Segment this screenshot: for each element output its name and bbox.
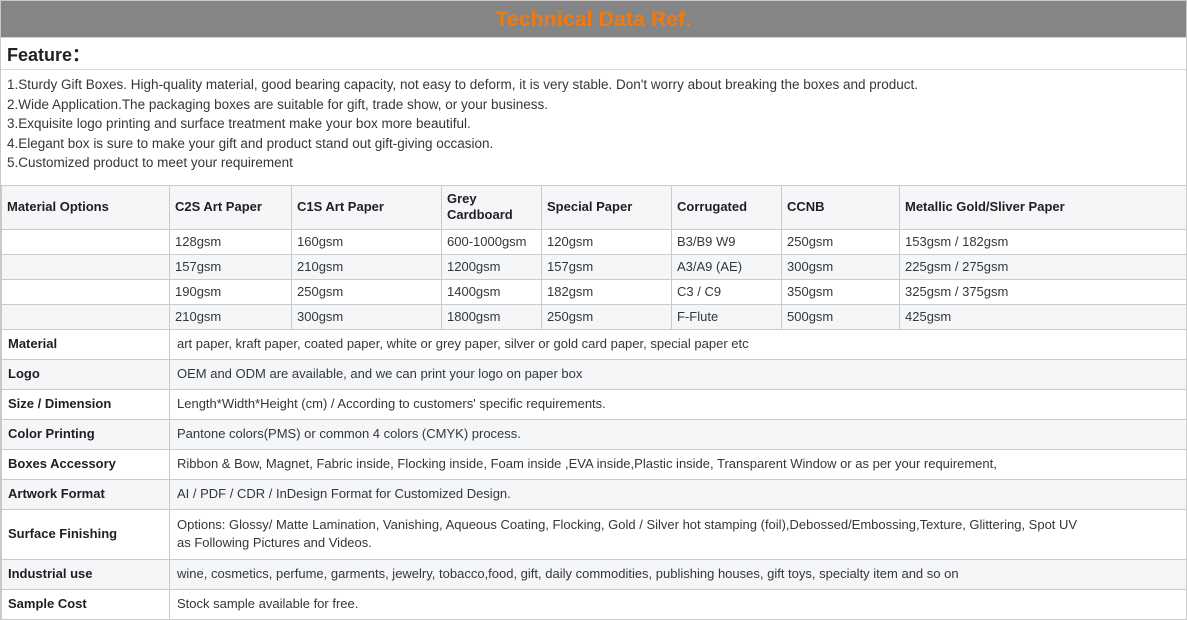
cell-special-paper: 182gsm <box>542 279 672 304</box>
spec-row-size-dimension: Size / Dimension Length*Width*Height (cm… <box>2 389 1187 419</box>
cell-grey-cardboard: 1400gsm <box>442 279 542 304</box>
feature-line: 3.Exquisite logo printing and surface tr… <box>7 114 1186 134</box>
spec-value-logo: OEM and ODM are available, and we can pr… <box>170 359 1187 389</box>
cell-special-paper: 250gsm <box>542 304 672 329</box>
spec-row-color-printing: Color Printing Pantone colors(PMS) or co… <box>2 419 1187 449</box>
cell-special-paper: 157gsm <box>542 254 672 279</box>
table-row: 128gsm 160gsm 600-1000gsm 120gsm B3/B9 W… <box>2 229 1187 254</box>
technical-data-sheet: Technical Data Ref. Feature： 1.Sturdy Gi… <box>0 0 1187 620</box>
spec-row-sample-cost: Sample Cost Stock sample available for f… <box>2 589 1187 619</box>
feature-list: 1.Sturdy Gift Boxes. High-quality materi… <box>1 70 1186 179</box>
table-row: 210gsm 300gsm 1800gsm 250gsm F-Flute 500… <box>2 304 1187 329</box>
cell-grey-cardboard: 1200gsm <box>442 254 542 279</box>
cell-metallic: 425gsm <box>900 304 1187 329</box>
feature-heading: Feature： <box>1 38 1186 70</box>
spec-label-industrial-use: Industrial use <box>2 559 170 589</box>
cell-grey-cardboard: 600-1000gsm <box>442 229 542 254</box>
cell-material-options <box>2 229 170 254</box>
cell-ccnb: 500gsm <box>782 304 900 329</box>
column-header-grey-cardboard: Grey Cardboard <box>442 185 542 229</box>
cell-corrugated: A3/A9 (AE) <box>672 254 782 279</box>
cell-metallic: 325gsm / 375gsm <box>900 279 1187 304</box>
cell-c2s: 210gsm <box>170 304 292 329</box>
page-title: Technical Data Ref. <box>496 9 692 30</box>
feature-heading-label: Feature： <box>7 41 90 67</box>
cell-material-options <box>2 304 170 329</box>
cell-corrugated: B3/B9 W9 <box>672 229 782 254</box>
spec-value-sample-cost: Stock sample available for free. <box>170 589 1187 619</box>
spec-label-sample-cost: Sample Cost <box>2 589 170 619</box>
spec-row-industrial-use: Industrial use wine, cosmetics, perfume,… <box>2 559 1187 589</box>
cell-metallic: 225gsm / 275gsm <box>900 254 1187 279</box>
column-header-ccnb: CCNB <box>782 185 900 229</box>
cell-c1s: 210gsm <box>292 254 442 279</box>
cell-material-options <box>2 254 170 279</box>
spec-row-boxes-accessory: Boxes Accessory Ribbon & Bow, Magnet, Fa… <box>2 449 1187 479</box>
spec-label-boxes-accessory: Boxes Accessory <box>2 449 170 479</box>
cell-corrugated: F-Flute <box>672 304 782 329</box>
title-bar: Technical Data Ref. <box>1 1 1186 38</box>
spec-label-material: Material <box>2 329 170 359</box>
spec-label-artwork-format: Artwork Format <box>2 479 170 509</box>
column-header-corrugated: Corrugated <box>672 185 782 229</box>
cell-c2s: 190gsm <box>170 279 292 304</box>
cell-corrugated: C3 / C9 <box>672 279 782 304</box>
cell-special-paper: 120gsm <box>542 229 672 254</box>
technical-data-table: Material Options C2S Art Paper C1S Art P… <box>1 185 1187 620</box>
cell-grey-cardboard: 1800gsm <box>442 304 542 329</box>
cell-c1s: 300gsm <box>292 304 442 329</box>
surface-finishing-line-1: Options: Glossy/ Matte Lamination, Vanis… <box>177 516 1181 534</box>
column-header-special-paper: Special Paper <box>542 185 672 229</box>
spec-value-surface-finishing: Options: Glossy/ Matte Lamination, Vanis… <box>170 509 1187 559</box>
column-header-c1s-art-paper: C1S Art Paper <box>292 185 442 229</box>
spec-value-artwork-format: AI / PDF / CDR / InDesign Format for Cus… <box>170 479 1187 509</box>
spec-label-size-dimension: Size / Dimension <box>2 389 170 419</box>
cell-c2s: 128gsm <box>170 229 292 254</box>
spec-label-surface-finishing: Surface Finishing <box>2 509 170 559</box>
surface-finishing-line-2: as Following Pictures and Videos. <box>177 534 1181 552</box>
column-header-c2s-art-paper: C2S Art Paper <box>170 185 292 229</box>
cell-c1s: 160gsm <box>292 229 442 254</box>
spec-row-artwork-format: Artwork Format AI / PDF / CDR / InDesign… <box>2 479 1187 509</box>
cell-material-options <box>2 279 170 304</box>
spec-value-industrial-use: wine, cosmetics, perfume, garments, jewe… <box>170 559 1187 589</box>
cell-c2s: 157gsm <box>170 254 292 279</box>
cell-ccnb: 350gsm <box>782 279 900 304</box>
spec-row-surface-finishing: Surface Finishing Options: Glossy/ Matte… <box>2 509 1187 559</box>
table-row: 190gsm 250gsm 1400gsm 182gsm C3 / C9 350… <box>2 279 1187 304</box>
column-header-material-options: Material Options <box>2 185 170 229</box>
spec-label-color-printing: Color Printing <box>2 419 170 449</box>
table-row: 157gsm 210gsm 1200gsm 157gsm A3/A9 (AE) … <box>2 254 1187 279</box>
column-header-metallic-paper: Metallic Gold/Sliver Paper <box>900 185 1187 229</box>
cell-ccnb: 250gsm <box>782 229 900 254</box>
spec-row-logo: Logo OEM and ODM are available, and we c… <box>2 359 1187 389</box>
feature-line: 1.Sturdy Gift Boxes. High-quality materi… <box>7 75 1186 95</box>
spec-row-material: Material art paper, kraft paper, coated … <box>2 329 1187 359</box>
cell-ccnb: 300gsm <box>782 254 900 279</box>
spec-label-logo: Logo <box>2 359 170 389</box>
spec-value-color-printing: Pantone colors(PMS) or common 4 colors (… <box>170 419 1187 449</box>
table-header-row: Material Options C2S Art Paper C1S Art P… <box>2 185 1187 229</box>
feature-line: 4.Elegant box is sure to make your gift … <box>7 134 1186 154</box>
spec-value-boxes-accessory: Ribbon & Bow, Magnet, Fabric inside, Flo… <box>170 449 1187 479</box>
cell-c1s: 250gsm <box>292 279 442 304</box>
spec-value-material: art paper, kraft paper, coated paper, wh… <box>170 329 1187 359</box>
feature-line: 2.Wide Application.The packaging boxes a… <box>7 95 1186 115</box>
cell-metallic: 153gsm / 182gsm <box>900 229 1187 254</box>
spec-value-size-dimension: Length*Width*Height (cm) / According to … <box>170 389 1187 419</box>
feature-line: 5.Customized product to meet your requir… <box>7 153 1186 173</box>
